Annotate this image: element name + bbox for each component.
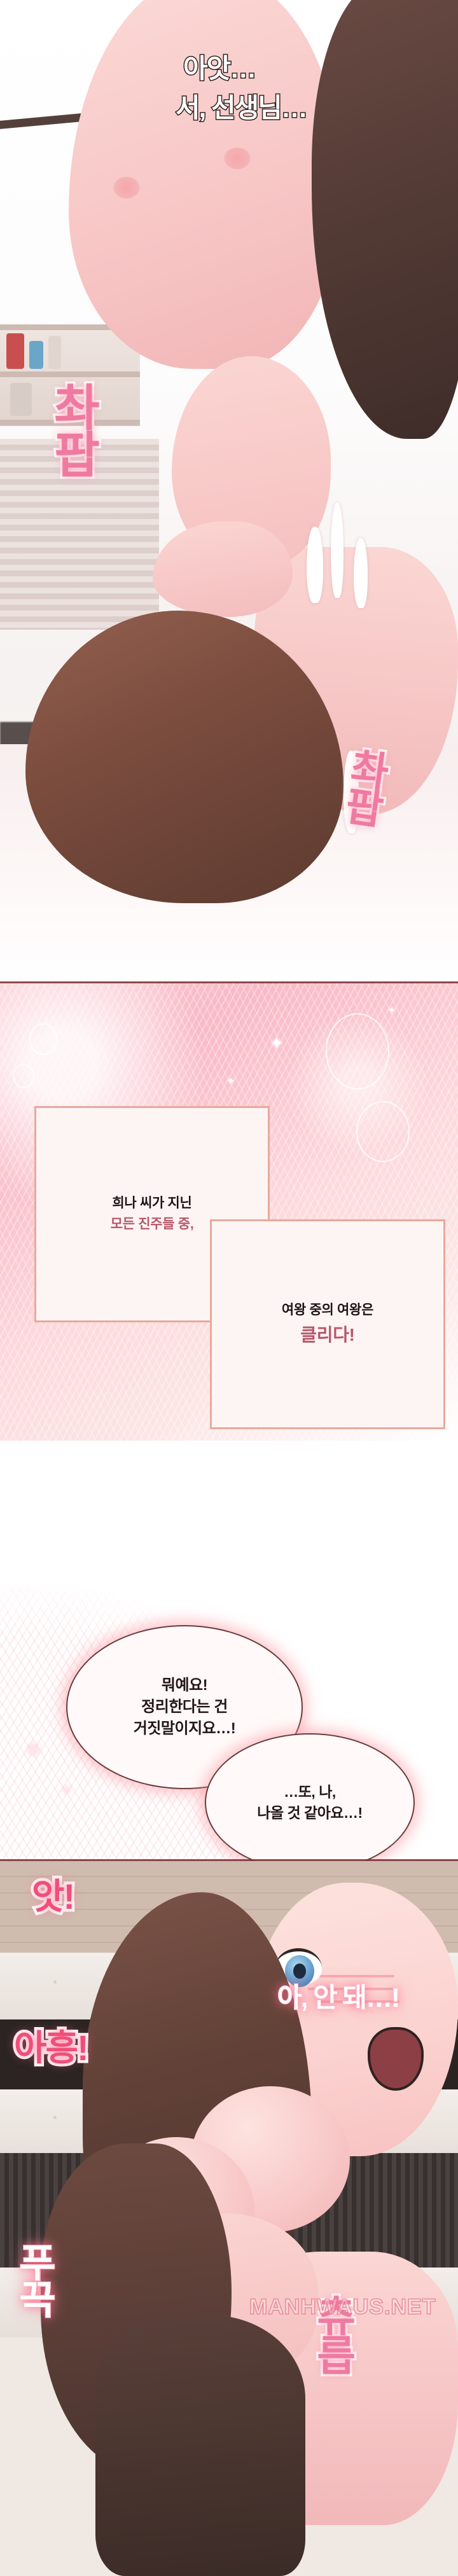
- fluid-streak-1: [307, 527, 323, 603]
- deco-bubble-4: [13, 1064, 34, 1088]
- bubble-protest-line1: 뭐예요!: [162, 1677, 207, 1694]
- sfx-pukeuk: 푸끅: [14, 2242, 52, 2316]
- sparkle-burst-2: ✦: [61, 1784, 72, 1797]
- shelf-item-box: [10, 383, 32, 416]
- figure-detail-right: [224, 148, 251, 169]
- bubble-again: …또, 나, 나올 것 같아요…!: [205, 1733, 415, 1860]
- bubble-protest-line2: 정리한다는 건: [141, 1698, 228, 1715]
- bubble-protest-line3: 거짓말이지요…!: [134, 1720, 235, 1737]
- dialogue-aat: 아앗…: [183, 56, 255, 81]
- sparkle-burst: ✦: [24, 1740, 43, 1761]
- site-watermark: MANHWAUS.NET: [249, 2295, 436, 2320]
- fluid-streak-2: [331, 502, 343, 598]
- caption-queen: 여왕 중의 여왕은 클리다!: [210, 1219, 445, 1429]
- sparkle-3: ✦: [388, 1006, 396, 1014]
- sfx-chwapap-right: 촤팝: [340, 745, 389, 826]
- caption-pearls-line2: 모든 진주들 중,: [111, 1217, 194, 1231]
- panel-2: ✦ ✦ ✦ ✦ 희나 씨가 지닌 모든 진주들 중, 여왕 중의 여왕은 클리다…: [0, 983, 458, 1441]
- sfx-aheung: 아흥!: [14, 2031, 88, 2065]
- pupil-left: [293, 1963, 306, 1979]
- sfx-chwapap-left: 촤팝: [50, 382, 97, 476]
- shelf-item-blue: [29, 341, 43, 369]
- panel-4: 앗! 아흥! 아, 안 돼…! 푸끅 츄릅: [0, 1860, 458, 2576]
- panel-divider-1: [0, 981, 458, 983]
- sfx-at: 앗!: [32, 1880, 74, 1913]
- dialogue-teacher: 서, 선생님…: [176, 95, 307, 121]
- caption-pearls-line1: 희나 씨가 지닌: [112, 1196, 191, 1210]
- deco-bubble-1: [326, 1013, 389, 1090]
- panel-divider-2: [0, 1859, 458, 1861]
- fluid-streak-3: [354, 538, 368, 608]
- bubble-again-line1: …또, 나,: [284, 1783, 336, 1800]
- shelf-item-red: [6, 333, 24, 369]
- deco-bubble-2: [356, 1101, 410, 1162]
- panel-3: ✦ ✦ 뭐예요! 정리한다는 건 거짓말이지요…! …또, 나, 나올 것 같아…: [0, 1441, 458, 1860]
- bubble-again-line2: 나올 것 같아요…!: [257, 1804, 362, 1821]
- figure-detail-left: [113, 177, 140, 198]
- caption-queen-line2: 클리다!: [300, 1325, 354, 1345]
- caption-queen-line1: 여왕 중의 여왕은: [282, 1303, 373, 1317]
- deco-bubble-3: [29, 1023, 57, 1055]
- sparkle-2: ✦: [226, 1077, 235, 1087]
- comic-page: 아앗… 서, 선생님… 촤팝 촤팝 ✦ ✦ ✦ ✦ 희나 씨가 지닌 모든 진주…: [0, 0, 458, 2576]
- figure-skirt: [95, 2315, 305, 2576]
- sparkle-1: ✦: [270, 1035, 284, 1051]
- sfx-no: 아, 안 돼…!: [277, 1985, 399, 2011]
- shelf-item-white: [48, 336, 61, 369]
- panel-1: 아앗… 서, 선생님… 촤팝 촤팝: [0, 0, 458, 983]
